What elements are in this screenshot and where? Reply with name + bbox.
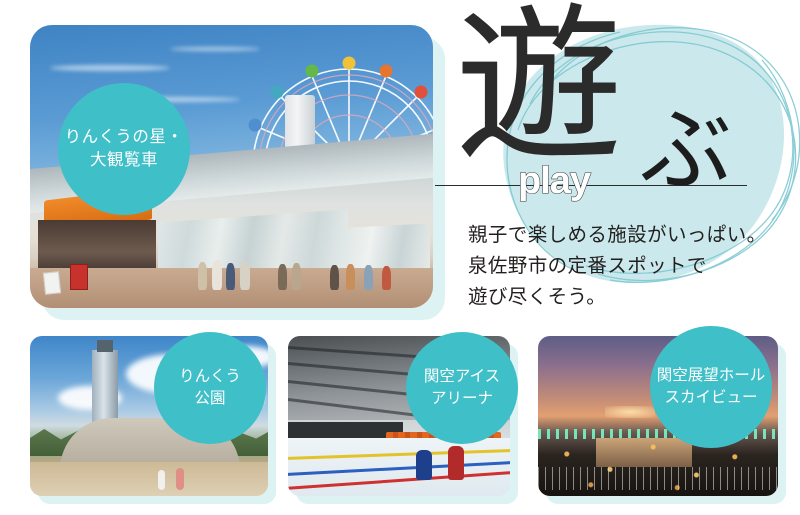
thumbnail-card-rinku-park[interactable]: りんくう 公園 bbox=[30, 336, 276, 504]
badge-kanku-skyview[interactable]: 関空展望ホール スカイビュー bbox=[650, 326, 772, 448]
description-line-3: 遊び尽くそう。 bbox=[468, 281, 767, 312]
badge-line-2: 公園 bbox=[194, 388, 225, 410]
description-text: 親子で楽しめる施設がいっぱい。 泉佐野市の定番スポットで 遊び尽くそう。 bbox=[468, 219, 767, 313]
badge-line-1: りんくう bbox=[179, 366, 241, 388]
badge-kanku-ice-arena[interactable]: 関空アイス アリーナ bbox=[406, 332, 518, 444]
thumbnail-row: りんくう 公園 bbox=[0, 336, 800, 512]
headline-romaji-play: play bbox=[518, 160, 590, 203]
badge-line-1: りんくうの星・ bbox=[65, 126, 184, 149]
headline-kanji: 遊 bbox=[455, 2, 623, 170]
badge-line-1: 関空アイス bbox=[424, 366, 500, 388]
thumbnail-card-kanku-ice-arena[interactable]: 関空アイス アリーナ bbox=[288, 336, 518, 504]
headline-kana: ぶ bbox=[640, 105, 732, 197]
badge-line-2: スカイビュー bbox=[664, 387, 757, 409]
badge-line-2: 大観覧車 bbox=[90, 149, 158, 172]
badge-line-2: アリーナ bbox=[431, 388, 493, 410]
badge-rinku-star-ferris-wheel[interactable]: りんくうの星・ 大観覧車 bbox=[58, 83, 190, 215]
hero-photo-card[interactable]: りんくうの星・ 大観覧車 bbox=[30, 25, 445, 320]
description-line-1: 親子で楽しめる施設がいっぱい。 bbox=[468, 219, 767, 250]
description-line-2: 泉佐野市の定番スポットで bbox=[468, 250, 767, 281]
headline-group: 遊 ぶ bbox=[455, 10, 795, 210]
poster-stage: りんくうの星・ 大観覧車 遊 ぶ play 親子で楽しめる施設がいっぱい。 泉佐… bbox=[0, 0, 800, 515]
thumbnail-card-kanku-skyview[interactable]: 関空展望ホール スカイビュー bbox=[538, 336, 786, 504]
badge-line-1: 関空展望ホール bbox=[657, 365, 766, 387]
badge-rinku-park[interactable]: りんくう 公園 bbox=[154, 332, 266, 444]
